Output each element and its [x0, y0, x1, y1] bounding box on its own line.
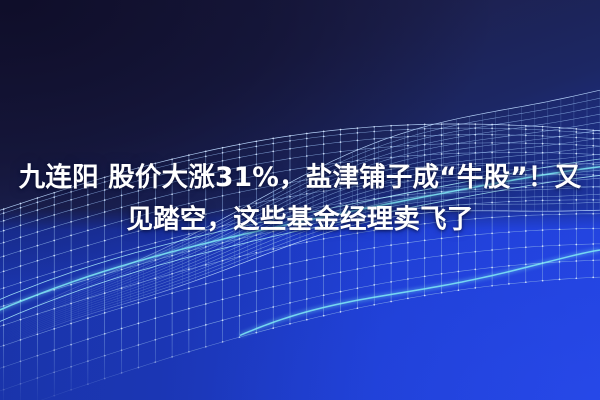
banner-image: 九连阳 股价大涨31%，盐津铺子成“牛股”！又见踏空，这些基金经理卖飞了 [0, 0, 600, 400]
headline-text: 九连阳 股价大涨31%，盐津铺子成“牛股”！又见踏空，这些基金经理卖飞了 [0, 157, 600, 241]
